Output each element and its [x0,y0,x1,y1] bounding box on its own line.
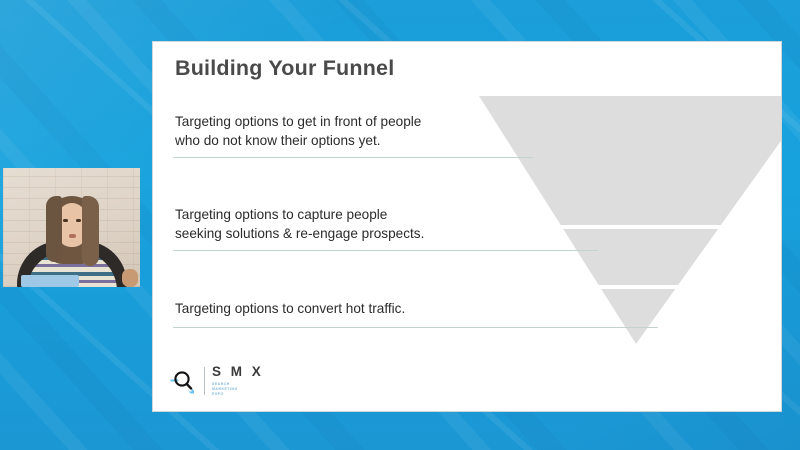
webcam-speaker-mouth [69,234,76,238]
presentation-slide: Building Your Funnel Targeting options t… [152,41,782,412]
screen: Building Your Funnel Targeting options t… [0,0,800,450]
speaker-video-feed[interactable] [3,168,140,287]
webcam-speaker-hand [122,269,138,287]
funnel-segment-middle [453,229,781,285]
logo-wordmark-group: S M X SEARCH MARKETING EXPO [212,365,264,397]
logo-divider [204,367,205,395]
funnel-segment-bottom [453,289,781,351]
logo-wordmark: S M X [212,365,264,379]
funnel-stage-awareness-text: Targeting options to get in front of peo… [175,112,421,151]
funnel-segment-top [453,92,781,225]
webcam-foreground-object [21,275,79,287]
logo-tagline: SEARCH MARKETING EXPO [212,382,264,397]
funnel-divider-2 [173,250,598,251]
smx-logo: S M X SEARCH MARKETING EXPO [167,365,264,397]
webcam-speaker-eye-right [76,219,81,222]
funnel-divider-1 [173,157,533,158]
funnel-divider-3 [173,327,658,328]
webcam-speaker-hair-right [82,196,99,266]
funnel-stage-conversion-text: Targeting options to convert hot traffic… [175,299,405,318]
funnel-stage-consideration-text: Targeting options to capture people seek… [175,205,424,244]
magnifying-glass-icon [167,366,197,396]
webcam-speaker-hair-left [46,196,62,262]
funnel-segments [453,92,781,351]
page-title: Building Your Funnel [175,56,394,81]
webcam-speaker-eye-left [63,219,68,222]
